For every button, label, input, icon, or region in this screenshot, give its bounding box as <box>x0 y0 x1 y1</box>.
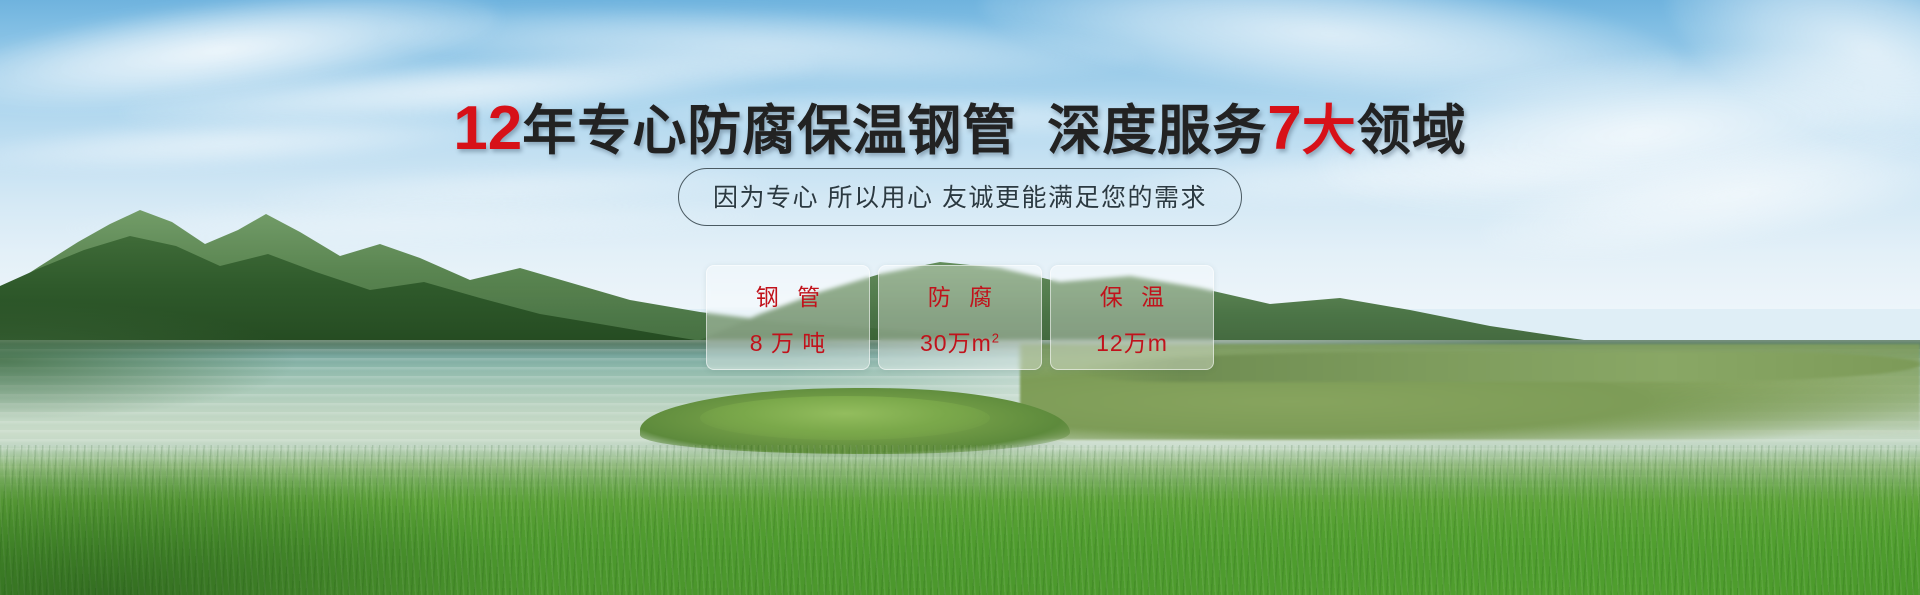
hero-banner: 12年专心防腐保温钢管深度服务7大领域 因为专心 所以用心 友诚更能满足您的需求… <box>0 0 1920 595</box>
stat-card-insulation[interactable]: 保 温 12万m <box>1050 265 1214 370</box>
grass-islet-highlight <box>700 396 990 440</box>
stat-card-value: 30万m2 <box>920 324 1000 358</box>
stat-card-value: 8 万 吨 <box>750 324 827 358</box>
stat-value-unit: 万m <box>948 330 992 356</box>
stat-value-superscript: 2 <box>992 330 1000 345</box>
stat-card-label: 钢 管 <box>750 278 826 312</box>
stat-card-group: 钢 管 8 万 吨 防 腐 30万m2 保 温 12万m <box>0 265 1920 370</box>
stat-card-anticorrosion[interactable]: 防 腐 30万m2 <box>878 265 1042 370</box>
headline-years-number: 12 <box>453 94 522 163</box>
stat-value-number: 12 <box>1096 330 1124 356</box>
banner-subtitle-wrapper: 因为专心 所以用心 友诚更能满足您的需求 <box>0 168 1920 226</box>
stat-card-steel-pipe[interactable]: 钢 管 8 万 吨 <box>706 265 870 370</box>
headline-text-secondary: 深度服务 <box>1047 101 1267 161</box>
headline-fields-word: 大 <box>1302 101 1357 161</box>
stat-value-number: 30 <box>920 330 948 356</box>
headline-fields-number: 7 <box>1267 94 1301 163</box>
banner-subtitle: 因为专心 所以用心 友诚更能满足您的需求 <box>678 168 1242 226</box>
headline-text-primary: 年专心防腐保温钢管 <box>522 101 1017 161</box>
stat-card-label: 防 腐 <box>922 278 998 312</box>
headline-text-tail: 领域 <box>1357 101 1467 161</box>
banner-headline: 12年专心防腐保温钢管深度服务7大领域 <box>0 86 1920 165</box>
stat-card-value: 12万m <box>1096 324 1168 358</box>
stat-value-unit: 万m <box>1124 330 1168 356</box>
grass-shadow <box>0 455 560 595</box>
stat-card-label: 保 温 <box>1094 278 1170 312</box>
